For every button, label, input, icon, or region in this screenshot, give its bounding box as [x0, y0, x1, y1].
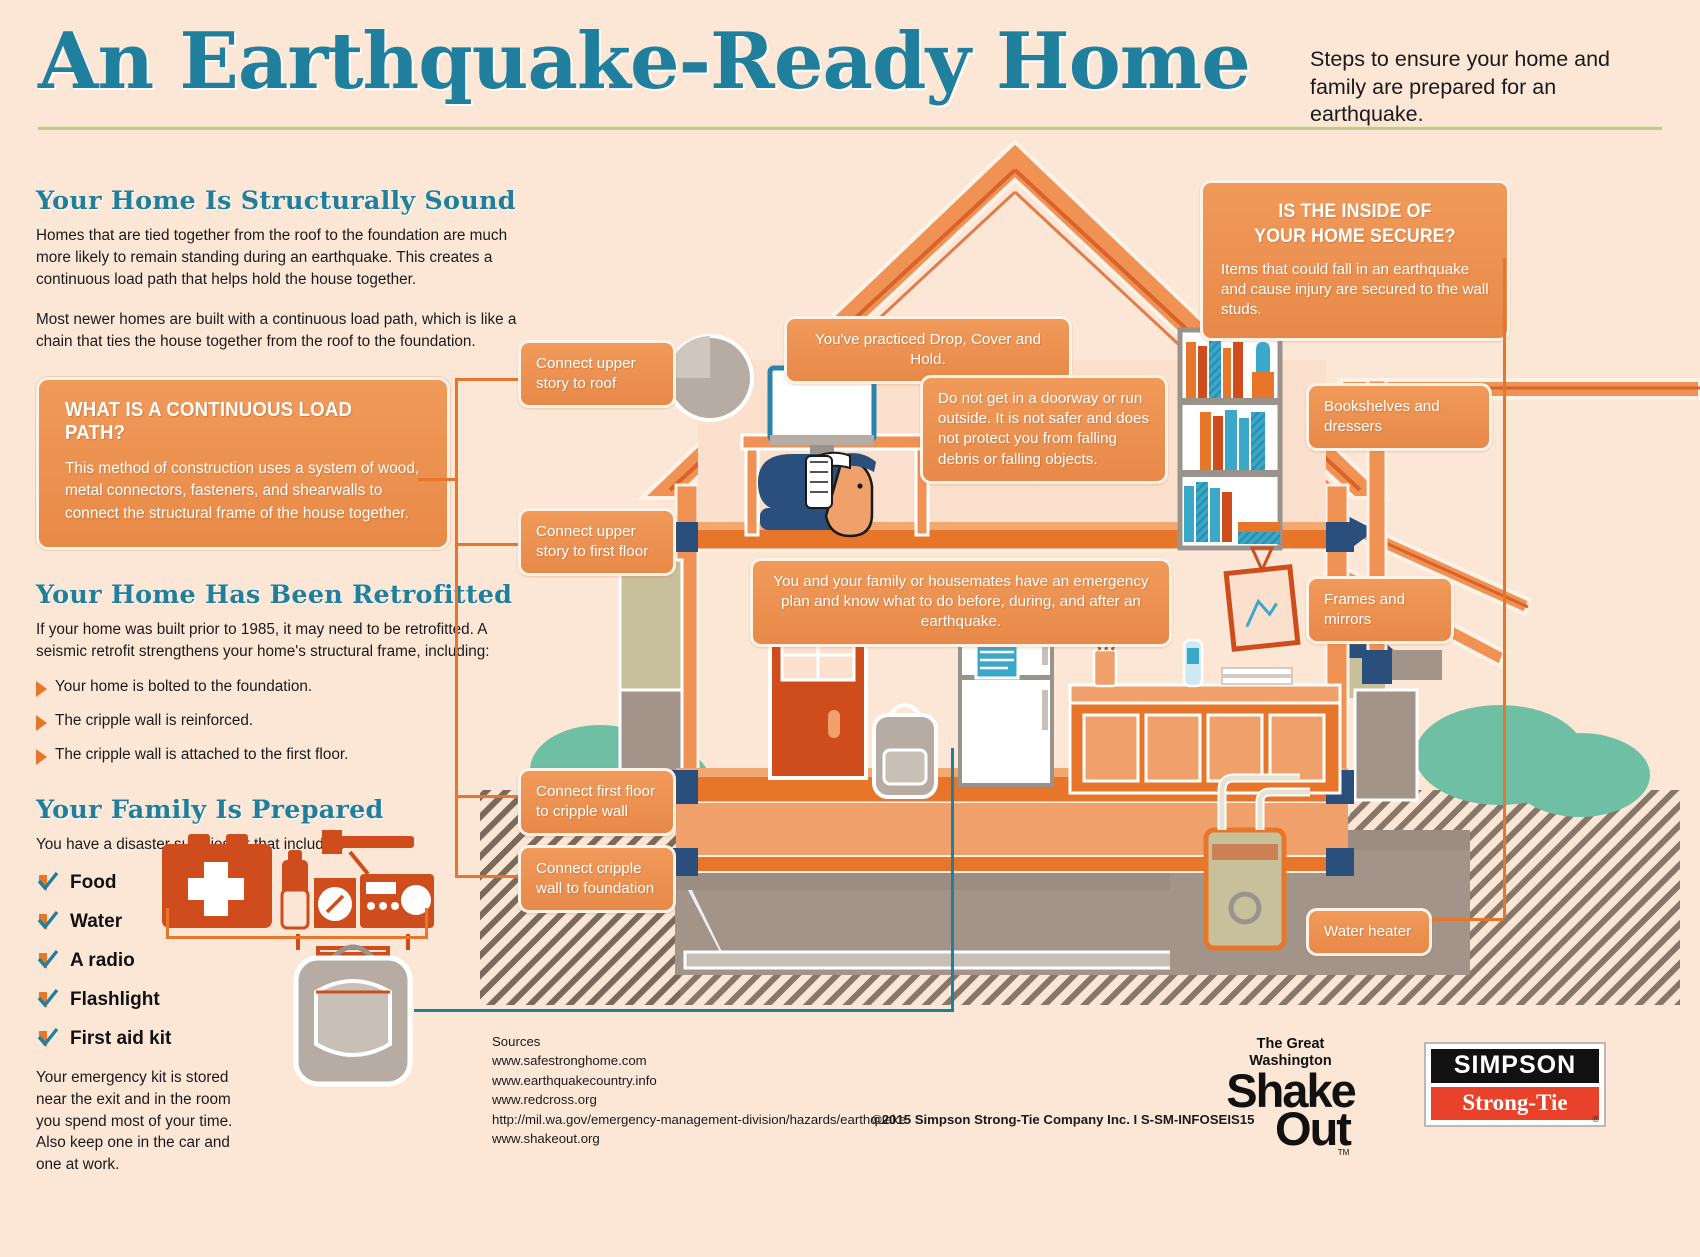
section-retrofitted: Your Home Has Been Retrofitted If your h… [36, 580, 526, 765]
panel-connector [418, 478, 458, 481]
right-connector-branch-water-heater [1432, 918, 1504, 921]
checklist-label: Food [70, 872, 116, 894]
panel-continuous-load-path: WHAT IS A CONTINUOUS LOAD PATH? This met… [36, 377, 450, 550]
shakeout-logo: The Great Washington Shake Out TM [1218, 1036, 1363, 1157]
kit-pointer-line-vertical [951, 748, 954, 1012]
simpson-name: SIMPSON [1431, 1049, 1599, 1083]
copyright-text: ©2015 Simpson Strong-Tie Company Inc. I … [872, 1112, 1254, 1127]
checkmark-icon [36, 871, 60, 895]
checkmark-icon [36, 910, 60, 934]
paragraph-structural-1: Homes that are tied together from the ro… [36, 225, 526, 291]
callout-inside-secure-body: Items that could fall in an earthquake a… [1221, 260, 1489, 321]
simpson-strong-tie-logo: SIMPSON Strong-Tie ® [1424, 1042, 1606, 1127]
bullet-retrofit-2: The cripple wall is attached to the firs… [36, 746, 526, 765]
supplies-kit-illustration [160, 812, 440, 942]
left-connector-branch-2 [455, 543, 525, 546]
left-connector-branch-1 [455, 378, 525, 381]
callout-connect-first-cripple[interactable]: Connect first floor to cripple wall [518, 768, 676, 836]
kit-pointer-line-horizontal [414, 1009, 954, 1012]
kit-bracket-left [166, 908, 169, 938]
checkmark-icon [36, 1027, 60, 1051]
right-connector-spine [1503, 258, 1506, 918]
simpson-product: Strong-Tie [1431, 1087, 1599, 1120]
panel-body-load-path: This method of construction uses a syste… [65, 458, 425, 525]
left-connector-branch-3 [455, 795, 525, 798]
checkmark-icon [36, 988, 60, 1012]
paragraph-kit-storage: Your emergency kit is stored near the ex… [36, 1067, 246, 1176]
sources-label: Sources [492, 1032, 906, 1051]
bullet-retrofit-0: Your home is bolted to the foundation. [36, 678, 526, 697]
callout-inside-secure-line1: IS THE INSIDE OF [1278, 201, 1431, 222]
callout-water-heater[interactable]: Water heater [1306, 908, 1432, 956]
section-heading-retrofit: Your Home Has Been Retrofitted [36, 580, 526, 610]
bullet-label: Your home is bolted to the foundation. [55, 678, 312, 696]
kit-bracket-right [425, 908, 428, 938]
page-subtitle: Steps to ensure your home and family are… [1310, 46, 1670, 129]
checkmark-icon [36, 949, 60, 973]
callout-connect-upper-roof[interactable]: Connect upper story to roof [518, 340, 676, 408]
section-structurally-sound: Your Home Is Structurally Sound Homes th… [36, 186, 526, 353]
bullet-retrofit-1: The cripple wall is reinforced. [36, 712, 526, 731]
arrow-triangle-icon [36, 749, 47, 765]
source-link-4[interactable]: www.shakeout.org [492, 1129, 906, 1148]
registered-mark: ® [1592, 1114, 1599, 1124]
source-link-3[interactable]: http://mil.wa.gov/emergency-management-d… [492, 1110, 906, 1129]
callout-frames-mirrors[interactable]: Frames and mirrors [1306, 576, 1454, 644]
shakeout-line1: The Great [1218, 1036, 1363, 1053]
backpack-illustration [278, 928, 428, 1088]
callout-connect-cripple-foundation[interactable]: Connect cripple wall to foundation [518, 845, 676, 913]
shakeout-out-word: Out [1262, 1110, 1363, 1148]
left-connector-spine [455, 378, 458, 878]
kit-bracket-horizontal [166, 936, 428, 939]
page-title: An Earthquake-Ready Home [38, 16, 1250, 107]
callout-inside-secure-line2: YOUR HOME SECURE? [1254, 226, 1455, 247]
checklist-label: First aid kit [70, 1028, 171, 1050]
header: An Earthquake-Ready Home Steps to ensure… [0, 0, 1700, 130]
callout-emergency-plan[interactable]: You and your family or housemates have a… [750, 558, 1172, 647]
source-link-0[interactable]: www.safestronghome.com [492, 1051, 906, 1070]
arrow-triangle-icon [36, 715, 47, 731]
sources-block: Sources www.safestronghome.com www.earth… [492, 1032, 906, 1148]
checklist-label: Flashlight [70, 989, 160, 1011]
source-link-1[interactable]: www.earthquakecountry.info [492, 1071, 906, 1090]
callout-bookshelves[interactable]: Bookshelves and dressers [1306, 383, 1492, 451]
checklist-label: Water [70, 911, 122, 933]
checklist-label: A radio [70, 950, 135, 972]
callout-inside-secure[interactable]: IS THE INSIDE OF YOUR HOME SECURE? Items… [1200, 180, 1510, 341]
callout-no-doorway[interactable]: Do not get in a doorway or run outside. … [920, 375, 1168, 484]
left-connector-branch-4 [455, 875, 525, 878]
arrow-triangle-icon [36, 681, 47, 697]
callout-connect-upper-first[interactable]: Connect upper story to first floor [518, 508, 676, 576]
paragraph-retrofit: If your home was built prior to 1985, it… [36, 619, 526, 663]
section-heading-structural: Your Home Is Structurally Sound [36, 186, 526, 216]
infographic-page: An Earthquake-Ready Home Steps to ensure… [0, 0, 1700, 1257]
panel-title-load-path: WHAT IS A CONTINUOUS LOAD PATH? [65, 399, 400, 445]
callout-inside-secure-title: IS THE INSIDE OF YOUR HOME SECURE? [1230, 199, 1479, 250]
source-link-2[interactable]: www.redcross.org [492, 1090, 906, 1109]
bullet-label: The cripple wall is reinforced. [55, 712, 253, 730]
paragraph-structural-2: Most newer homes are built with a contin… [36, 309, 526, 353]
bullet-label: The cripple wall is attached to the firs… [55, 746, 348, 764]
